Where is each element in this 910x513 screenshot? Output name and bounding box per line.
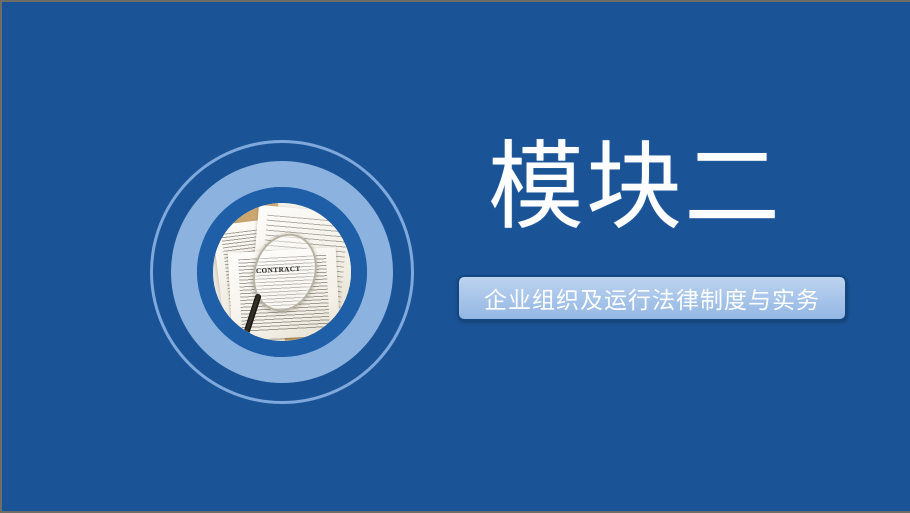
subtitle-box: 企业组织及运行法律制度与实务: [457, 275, 847, 321]
circular-photo-emblem: CONTRACT: [150, 140, 414, 404]
contract-photo: CONTRACT: [213, 203, 351, 341]
slide-title: 模块二: [488, 138, 782, 239]
subtitle-text: 企业组织及运行法律制度与实务: [484, 281, 820, 315]
presentation-slide: CONTRACT 模块二 企业组织及运行法律制度与实务: [0, 0, 910, 513]
photo-backdrop: CONTRACT: [213, 203, 351, 341]
